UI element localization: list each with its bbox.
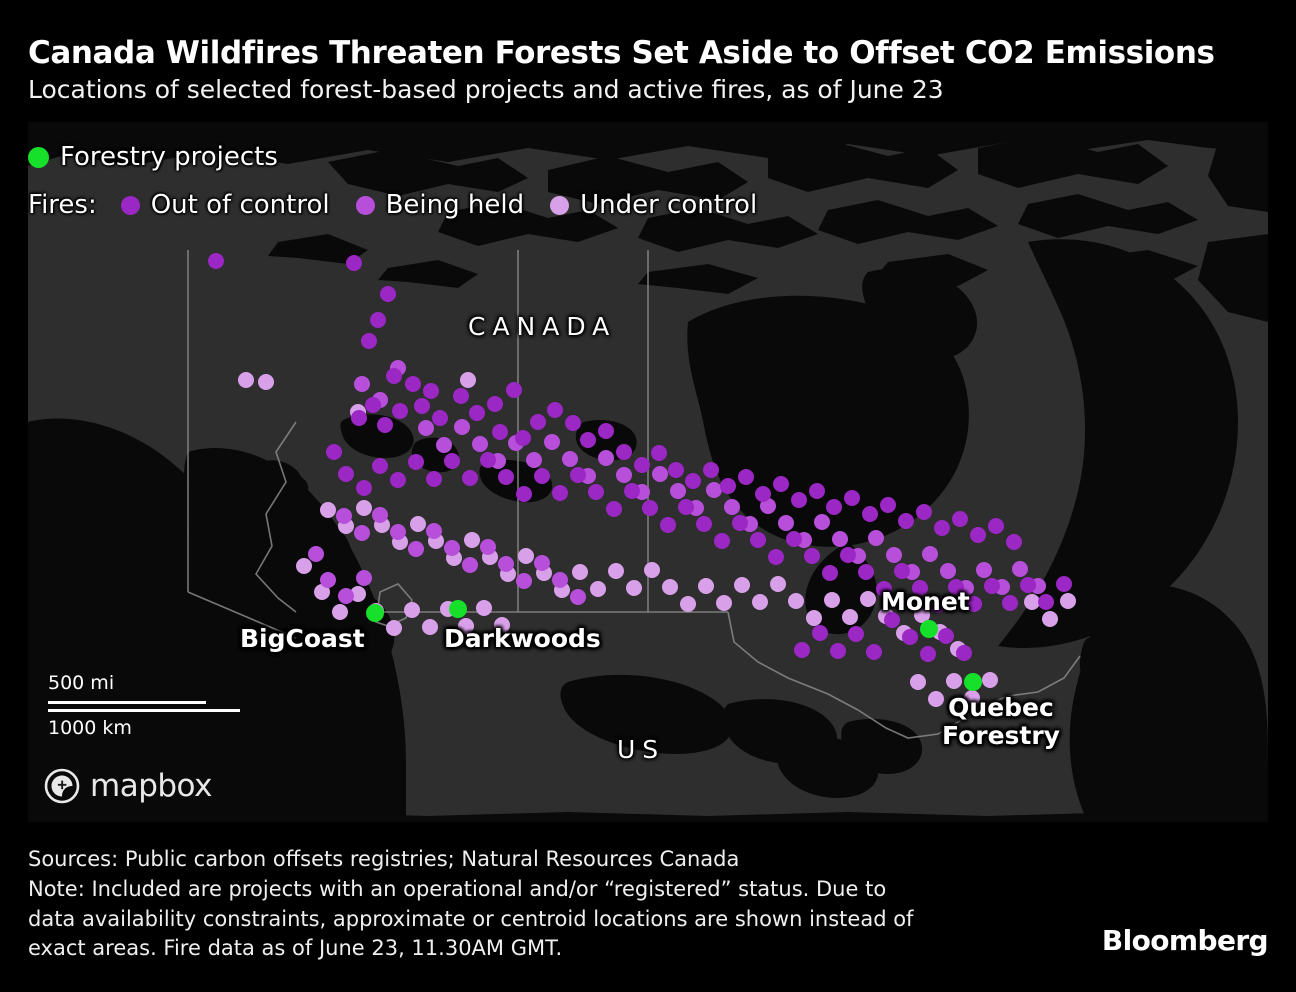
fire-marker	[361, 333, 377, 349]
fire-marker	[356, 570, 372, 586]
fire-marker	[516, 486, 532, 502]
fire-marker	[922, 546, 938, 562]
fire-marker	[750, 532, 766, 548]
fire-marker	[338, 466, 354, 482]
fire-marker	[768, 549, 784, 565]
fire-marker	[410, 516, 426, 532]
fire-marker	[453, 388, 469, 404]
fire-marker	[598, 423, 614, 439]
fire-marker	[377, 417, 393, 433]
fire-marker	[616, 444, 632, 460]
fire-marker	[720, 478, 736, 494]
fire-marker	[498, 469, 514, 485]
fire-marker	[738, 469, 754, 485]
footnote-sources: Sources: Public carbon offsets registrie…	[28, 845, 1063, 875]
fire-marker	[365, 397, 381, 413]
fire-marker	[426, 523, 442, 539]
fire-marker	[860, 591, 876, 607]
fire-marker	[866, 644, 882, 660]
green-dot-icon	[28, 147, 49, 168]
fire-marker	[652, 466, 668, 482]
fire-marker	[308, 546, 324, 562]
legend-row-fires: Fires: Out of control Being held Under c…	[28, 184, 783, 226]
fire-marker	[755, 486, 771, 502]
legend-item-being-held[interactable]: Being held	[356, 190, 525, 220]
infographic-root: Canada Wildfires Threaten Forests Set As…	[0, 0, 1296, 992]
fire-marker	[698, 578, 714, 594]
fire-marker	[773, 476, 789, 492]
fire-marker	[910, 674, 926, 690]
scale-line-km	[48, 709, 240, 712]
fire-marker	[938, 628, 954, 644]
fire-marker	[570, 467, 586, 483]
legend-label-under-control: Under control	[580, 190, 757, 220]
scale-label-km: 1000 km	[48, 717, 240, 741]
fire-marker	[840, 547, 856, 563]
fire-marker	[714, 533, 730, 549]
fire-marker	[822, 565, 838, 581]
fire-marker	[794, 642, 810, 658]
fire-marker	[534, 468, 550, 484]
mapbox-attribution[interactable]: mapbox	[44, 768, 212, 804]
fire-marker	[651, 445, 667, 461]
footnote-note-line-1: Note: Included are projects with an oper…	[28, 875, 1063, 905]
fire-marker	[472, 436, 488, 452]
fire-marker	[404, 602, 420, 618]
fire-marker	[408, 541, 424, 557]
fire-marker	[598, 450, 614, 466]
fire-marker	[487, 396, 503, 412]
fire-marker	[912, 580, 928, 596]
fire-marker	[1002, 595, 1018, 611]
fire-marker	[296, 558, 312, 574]
fire-marker	[454, 419, 470, 435]
fire-marker	[976, 562, 992, 578]
header: Canada Wildfires Threaten Forests Set As…	[28, 36, 1268, 104]
fire-marker	[370, 312, 386, 328]
fire-marker	[858, 564, 874, 580]
legend-item-under-control[interactable]: Under control	[550, 190, 757, 220]
fire-marker	[770, 576, 786, 592]
fire-marker	[469, 405, 485, 421]
fire-marker	[662, 579, 678, 595]
fire-marker	[444, 453, 460, 469]
fire-marker	[626, 580, 642, 596]
legend-label-forestry-projects: Forestry projects	[60, 142, 278, 172]
fire-marker	[724, 499, 740, 515]
fire-marker	[547, 402, 563, 418]
fire-marker	[928, 691, 944, 707]
fire-marker	[806, 610, 822, 626]
fire-marker	[848, 626, 864, 642]
fire-marker	[982, 672, 998, 688]
legend-item-out-of-control[interactable]: Out of control	[121, 190, 330, 220]
fire-marker	[988, 518, 1004, 534]
fire-marker	[706, 482, 722, 498]
fire-marker	[734, 577, 750, 593]
fire-marker	[351, 410, 367, 426]
fire-marker	[320, 572, 336, 588]
fire-marker	[826, 499, 842, 515]
fire-marker	[1006, 534, 1022, 550]
fire-marker	[354, 376, 370, 392]
fire-marker	[534, 555, 550, 571]
fire-marker	[544, 434, 560, 450]
fire-marker	[552, 572, 568, 588]
purple-dot-icon-being-held	[356, 196, 375, 215]
fire-marker	[791, 492, 807, 508]
fire-marker	[934, 520, 950, 536]
legend-item-forestry-projects[interactable]: Forestry projects	[28, 142, 278, 172]
purple-dot-icon-out-of-control	[121, 196, 140, 215]
fire-marker	[526, 452, 542, 468]
map-scale-bar: 500 mi 1000 km	[48, 672, 240, 741]
page-title: Canada Wildfires Threaten Forests Set As…	[28, 36, 1268, 71]
fire-marker	[588, 484, 604, 500]
fire-marker	[492, 424, 508, 440]
fire-marker	[390, 472, 406, 488]
fire-marker	[862, 506, 878, 522]
fire-marker	[964, 690, 980, 706]
fire-marker	[920, 646, 936, 662]
fire-marker	[460, 372, 476, 388]
scale-line-miles	[48, 701, 206, 704]
fire-marker	[902, 629, 918, 645]
fire-marker	[616, 467, 632, 483]
fire-marker	[356, 500, 372, 516]
fire-marker	[668, 462, 684, 478]
fire-marker	[884, 612, 900, 628]
fire-marker	[970, 527, 986, 543]
footnote-note-line-2: data availability constraints, approxima…	[28, 905, 1063, 935]
fire-marker	[518, 548, 534, 564]
fire-marker	[392, 403, 408, 419]
fire-marker	[966, 596, 982, 612]
fire-marker	[642, 500, 658, 516]
fire-marker	[812, 625, 828, 641]
legend: Forestry projects Fires: Out of control …	[28, 136, 783, 226]
purple-dot-icon-under-control	[550, 196, 569, 215]
fire-marker	[480, 452, 496, 468]
fire-marker	[354, 525, 370, 541]
fire-marker	[880, 497, 896, 513]
fire-marker	[580, 432, 596, 448]
legend-row-projects: Forestry projects	[28, 136, 783, 178]
fire-marker	[670, 483, 686, 499]
legend-label-out-of-control: Out of control	[151, 190, 330, 220]
fire-marker	[1042, 611, 1058, 627]
fire-marker	[696, 516, 712, 532]
fire-marker	[436, 437, 452, 453]
fire-marker	[788, 593, 804, 609]
fire-marker	[444, 540, 460, 556]
fire-marker	[422, 619, 438, 635]
fire-marker	[458, 618, 474, 634]
fire-marker	[426, 471, 442, 487]
fire-marker	[506, 382, 522, 398]
fire-marker	[346, 255, 362, 271]
page-subtitle: Locations of selected forest-based proje…	[28, 75, 1268, 105]
fire-marker	[462, 557, 478, 573]
fire-marker	[952, 511, 968, 527]
footnote-note-line-3: exact areas. Fire data as of June 23, 11…	[28, 934, 1063, 964]
fire-marker	[778, 515, 794, 531]
fire-marker	[515, 430, 531, 446]
fire-marker	[498, 556, 514, 572]
fire-marker	[886, 547, 902, 563]
fire-marker	[644, 562, 660, 578]
fire-marker	[386, 620, 402, 636]
fire-marker	[824, 592, 840, 608]
fire-marker	[462, 470, 478, 486]
legend-label-being-held: Being held	[386, 190, 525, 220]
fire-marker	[984, 578, 1000, 594]
fire-marker	[732, 515, 748, 531]
fire-marker	[418, 420, 434, 436]
fire-marker	[464, 532, 480, 548]
fire-marker	[624, 483, 640, 499]
fire-marker	[804, 548, 820, 564]
fire-marker	[423, 383, 439, 399]
fire-marker	[930, 597, 946, 613]
fire-marker	[660, 517, 676, 533]
fire-marker	[1060, 593, 1076, 609]
fire-marker	[830, 643, 846, 659]
fire-marker	[948, 579, 964, 595]
scale-label-miles: 500 mi	[48, 672, 240, 696]
fire-marker	[405, 376, 421, 392]
fire-marker	[1020, 577, 1036, 593]
fire-marker	[680, 596, 696, 612]
fire-marker	[480, 539, 496, 555]
fire-marker	[606, 501, 622, 517]
fire-marker	[552, 485, 568, 501]
fire-marker	[408, 454, 424, 470]
fire-marker	[372, 507, 388, 523]
fire-marker	[716, 595, 732, 611]
fire-marker	[894, 563, 910, 579]
fire-marker	[390, 524, 406, 540]
fire-marker	[685, 473, 701, 489]
fire-marker	[336, 508, 352, 524]
fire-marker	[608, 563, 624, 579]
fire-marker	[814, 514, 830, 530]
fire-marker	[338, 588, 354, 604]
fire-marker	[516, 573, 532, 589]
forestry-project-marker	[366, 604, 384, 622]
fire-marker	[565, 415, 581, 431]
fire-marker	[809, 483, 825, 499]
fire-marker	[414, 398, 430, 414]
forestry-project-marker	[920, 620, 938, 638]
forestry-project-marker	[449, 600, 467, 618]
fire-marker	[898, 513, 914, 529]
fire-marker	[590, 581, 606, 597]
fire-marker	[946, 673, 962, 689]
fire-marker	[238, 372, 254, 388]
fire-marker	[476, 600, 492, 616]
fire-marker	[916, 504, 932, 520]
fire-marker	[208, 253, 224, 269]
fire-marker	[868, 530, 884, 546]
fire-marker	[570, 589, 586, 605]
fire-marker	[1038, 594, 1054, 610]
bloomberg-logo: Bloomberg	[1102, 924, 1268, 957]
fire-marker	[258, 374, 274, 390]
fire-marker	[332, 604, 348, 620]
fire-marker	[940, 563, 956, 579]
fire-marker	[530, 414, 546, 430]
fire-marker	[380, 286, 396, 302]
fire-marker	[386, 368, 402, 384]
fire-marker	[678, 499, 694, 515]
fire-marker	[752, 594, 768, 610]
fire-marker	[320, 502, 336, 518]
mapbox-wordmark: mapbox	[90, 768, 212, 804]
fire-marker	[786, 531, 802, 547]
fire-marker	[703, 462, 719, 478]
footnotes: Sources: Public carbon offsets registrie…	[28, 845, 1063, 964]
fire-marker	[832, 531, 848, 547]
fire-marker	[1024, 594, 1040, 610]
fire-marker	[634, 457, 650, 473]
fire-marker	[1056, 576, 1072, 592]
fire-marker	[356, 480, 372, 496]
fire-marker	[1012, 561, 1028, 577]
fire-marker	[432, 410, 448, 426]
forestry-project-marker	[964, 673, 982, 691]
fire-marker	[326, 444, 342, 460]
fire-marker	[956, 645, 972, 661]
fire-marker	[844, 490, 860, 506]
mapbox-logo-icon	[44, 768, 80, 804]
fire-marker	[372, 458, 388, 474]
fire-marker	[562, 451, 578, 467]
legend-prefix-fires: Fires:	[28, 190, 97, 220]
fire-marker	[842, 609, 858, 625]
fire-marker	[876, 581, 892, 597]
fire-marker	[572, 564, 588, 580]
fire-marker	[494, 617, 510, 633]
